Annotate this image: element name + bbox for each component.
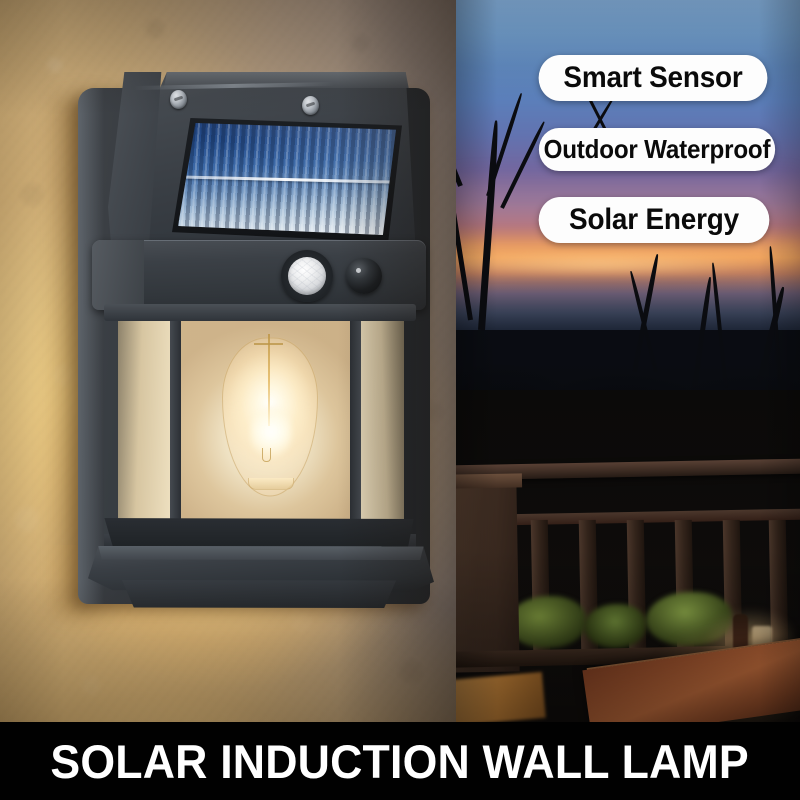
feature-badge-label: Outdoor Waterproof: [544, 134, 771, 165]
left-product-photo: [0, 0, 456, 722]
product-image: Smart Sensor Outdoor Waterproof Solar En…: [0, 0, 800, 800]
feature-badge-group: Smart Sensor Outdoor Waterproof Solar En…: [456, 0, 800, 300]
feature-badge-outdoor-waterproof[interactable]: Outdoor Waterproof: [539, 128, 775, 171]
feature-badge-smart-sensor[interactable]: Smart Sensor: [539, 55, 768, 101]
feature-badge-label: Smart Sensor: [563, 61, 742, 95]
feature-badge-label: Solar Energy: [569, 203, 739, 237]
left-panel-vignette: [0, 0, 456, 722]
feature-badge-solar-energy[interactable]: Solar Energy: [539, 197, 770, 243]
product-title: SOLAR INDUCTION WALL LAMP: [51, 738, 749, 785]
bottom-banner: SOLAR INDUCTION WALL LAMP: [0, 722, 800, 800]
